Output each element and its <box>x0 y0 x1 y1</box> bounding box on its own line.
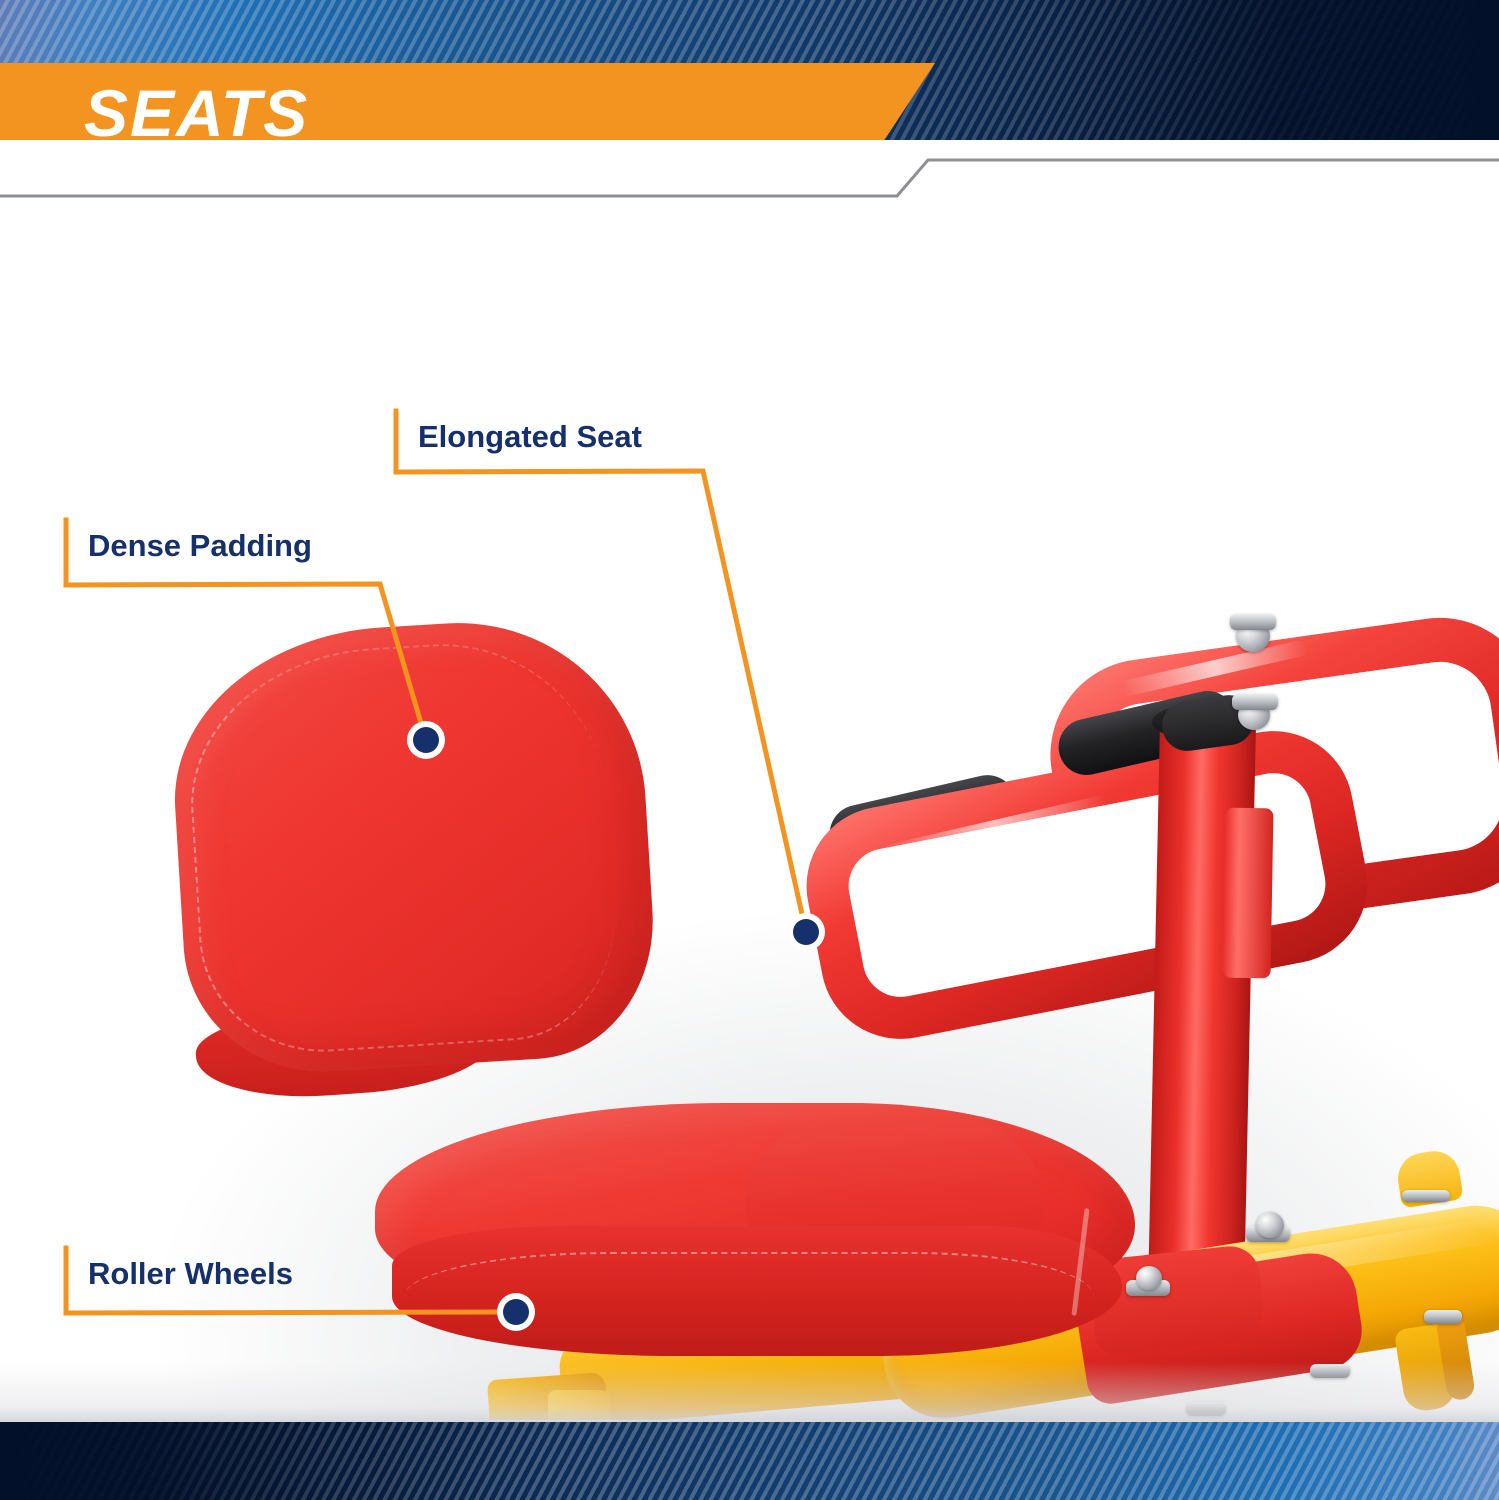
product-photo <box>0 208 1499 1420</box>
steering-post <box>1148 719 1256 1299</box>
backrest-cushion <box>165 612 661 1080</box>
seat-stitching <box>404 1252 1094 1302</box>
washer-frame-right <box>1424 1310 1462 1324</box>
bolt-clamp-b <box>1256 1212 1284 1238</box>
washer-post-upper <box>1230 614 1276 630</box>
callout-label-elongated-seat: Elongated Seat <box>418 421 642 452</box>
callout-label-dense-padding: Dense Padding <box>88 530 312 561</box>
footer-stripe-fade <box>0 1422 1499 1500</box>
washer-post-lower <box>1232 694 1278 710</box>
post-mount-plate <box>1223 808 1274 979</box>
page-title: SEATS <box>84 80 309 146</box>
footer-banner <box>0 1422 1499 1500</box>
washer-knob <box>1402 1190 1450 1202</box>
bolt-clamp-a <box>1136 1266 1162 1290</box>
footer-glow <box>0 1362 1499 1422</box>
infographic-canvas: SEATS <box>0 0 1499 1500</box>
header-outline-rule <box>0 140 1499 208</box>
backrest-stitching <box>182 634 621 1059</box>
callout-label-roller-wheels: Roller Wheels <box>88 1258 293 1289</box>
